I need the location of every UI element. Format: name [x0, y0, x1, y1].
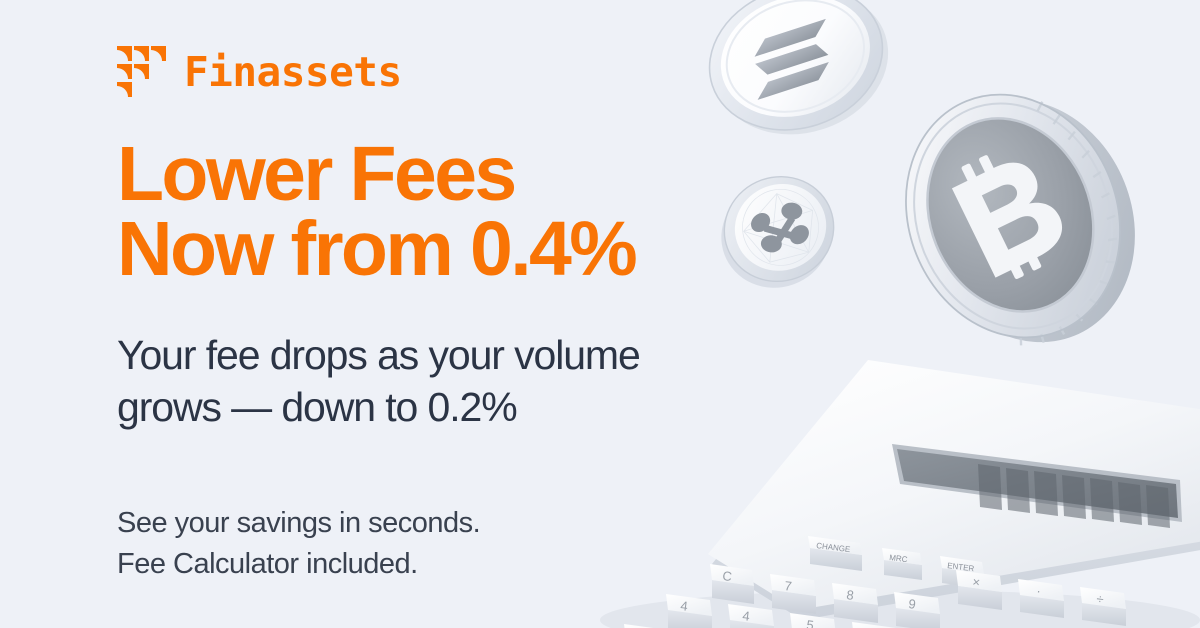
svg-text:MRC: MRC [889, 553, 908, 564]
headline-line-1: Lower Fees [117, 131, 515, 217]
solana-icon [754, 19, 830, 100]
bitcoin-icon [945, 137, 1077, 289]
footer-copy: See your savings in seconds. Fee Calcula… [117, 503, 480, 585]
svg-text:·: · [1036, 583, 1042, 598]
calculator-display [892, 444, 1182, 528]
svg-text:7: 7 [784, 578, 793, 594]
svg-text:×: × [972, 574, 981, 590]
footer-line-2: Fee Calculator included. [117, 544, 480, 585]
svg-text:9: 9 [908, 596, 917, 612]
svg-text:ENTER: ENTER [947, 561, 975, 573]
svg-text:5: 5 [806, 617, 815, 628]
subheadline: Your fee drops as your volume grows — do… [117, 330, 717, 433]
svg-text:CHANGE: CHANGE [816, 541, 851, 554]
page-title: Lower Fees Now from 0.4% [117, 137, 635, 288]
svg-text:÷: ÷ [1096, 591, 1105, 607]
brand-logo[interactable]: Finassets [117, 46, 402, 98]
calculator-function-keys: CHANGE MRC ENTER [808, 536, 984, 589]
headline-line-2: Now from 0.4% [117, 212, 635, 287]
brand-wordmark: Finassets [184, 52, 402, 93]
svg-text:8: 8 [846, 587, 855, 603]
promo-banner: CHANGE MRC ENTER [0, 0, 1200, 628]
footer-line-1: See your savings in seconds. [117, 507, 480, 539]
bitcoin-coin [888, 82, 1138, 348]
banner-content: Finassets Lower Fees Now from 0.4% Your … [117, 0, 757, 628]
finassets-stacked-f-logo-icon [117, 46, 169, 98]
subheadline-line-1: Your fee drops as your volume [117, 332, 640, 378]
subheadline-line-2: grows — down to 0.2% [117, 382, 717, 434]
